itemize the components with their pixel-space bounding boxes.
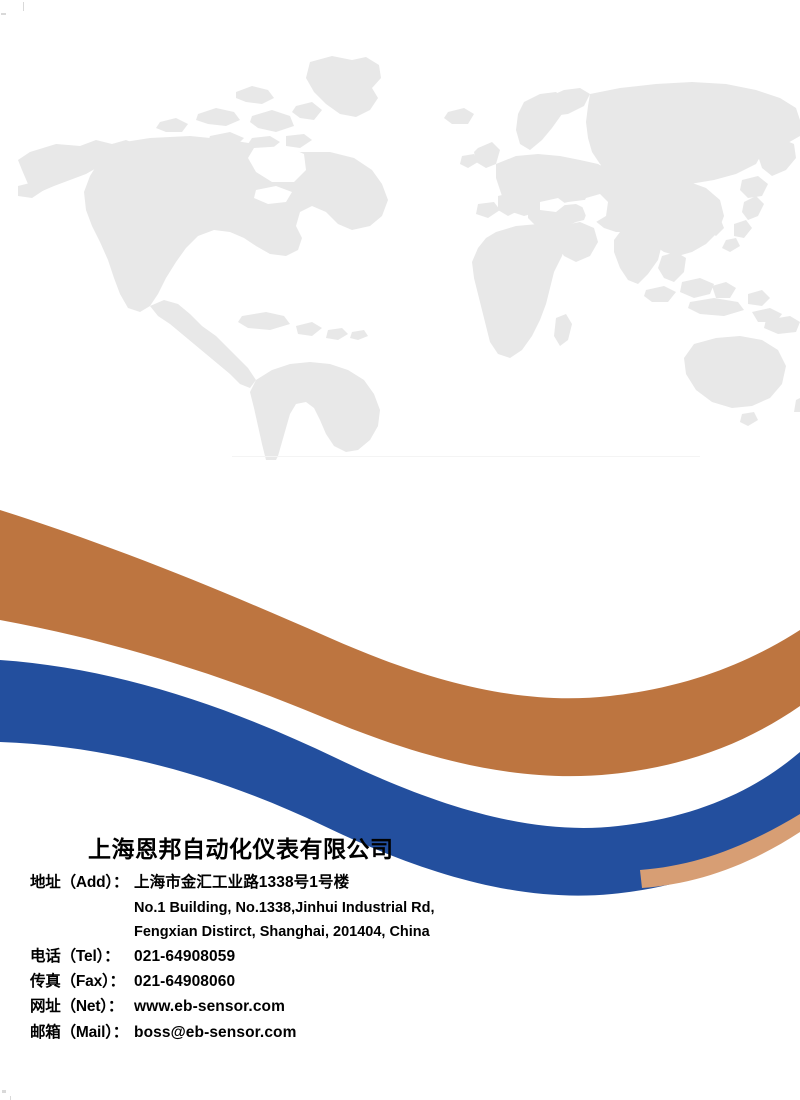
contact-label-email: 邮箱（Mail）： bbox=[30, 1020, 134, 1045]
contact-row-address: 地址（Add）： 上海市金汇工业路1338号1号楼 bbox=[0, 870, 800, 895]
contact-value-email[interactable]: boss@eb-sensor.com bbox=[134, 1020, 297, 1045]
map-divider-line bbox=[232, 456, 700, 457]
back-cover-page: 上海恩邦自动化仪表有限公司 地址（Add）： 上海市金汇工业路1338号1号楼 … bbox=[0, 0, 800, 1100]
contact-row-address-en-line1: No.1 Building, No.1338,Jinhui Industrial… bbox=[0, 896, 800, 920]
contact-value-address: 上海市金汇工业路1338号1号楼 bbox=[134, 870, 349, 895]
contact-value-address-en-line1: No.1 Building, No.1338,Jinhui Industrial… bbox=[134, 896, 435, 920]
contact-value-website[interactable]: www.eb-sensor.com bbox=[134, 994, 285, 1019]
world-map-watermark bbox=[0, 40, 800, 460]
world-map-landmasses bbox=[18, 56, 800, 460]
contact-value-address-en-line2: Fengxian Distirct, Shanghai, 201404, Chi… bbox=[134, 920, 430, 944]
contact-value-tel[interactable]: 021-64908059 bbox=[134, 944, 235, 969]
contact-label-website: 网址（Net）： bbox=[30, 994, 134, 1019]
contact-label-address: 地址（Add）： bbox=[30, 870, 134, 895]
contact-information-block: 上海恩邦自动化仪表有限公司 地址（Add）： 上海市金汇工业路1338号1号楼 … bbox=[0, 836, 800, 1045]
scan-speck bbox=[10, 1096, 11, 1100]
scan-speck bbox=[1, 13, 6, 15]
contact-row-fax: 传真（Fax）： 021-64908060 bbox=[0, 969, 800, 994]
contact-value-fax: 021-64908060 bbox=[134, 969, 235, 994]
contact-row-website: 网址（Net）： www.eb-sensor.com bbox=[0, 994, 800, 1019]
contact-row-tel: 电话（Tel）： 021-64908059 bbox=[0, 944, 800, 969]
contact-label-tel: 电话（Tel）： bbox=[30, 944, 134, 969]
scan-speck bbox=[23, 2, 24, 11]
contact-label-fax: 传真（Fax）： bbox=[30, 969, 134, 994]
contact-row-address-en-line2: Fengxian Distirct, Shanghai, 201404, Chi… bbox=[0, 920, 800, 944]
company-name: 上海恩邦自动化仪表有限公司 bbox=[0, 836, 800, 862]
scan-speck bbox=[2, 1090, 6, 1093]
contact-row-email: 邮箱（Mail）： boss@eb-sensor.com bbox=[0, 1020, 800, 1045]
